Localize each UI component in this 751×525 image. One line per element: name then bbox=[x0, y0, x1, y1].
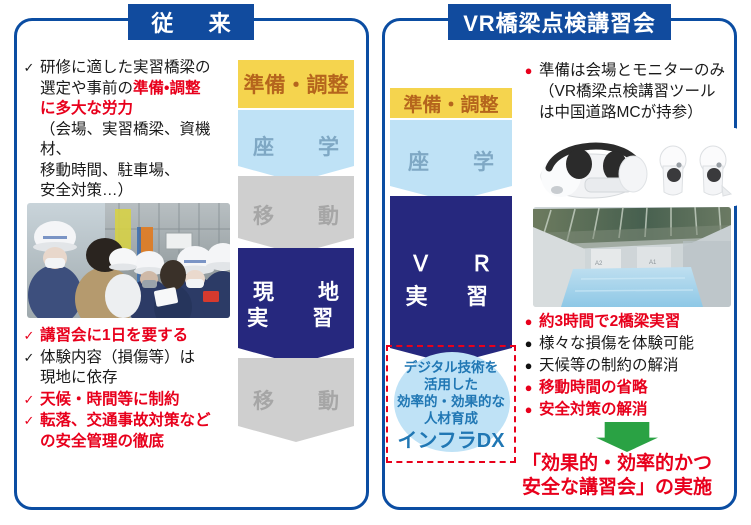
conclusion-line: 「効果的・効率的かつ bbox=[522, 453, 712, 474]
flow-step-prep: 準備・調整 bbox=[238, 60, 354, 108]
bullet-line: 転落、交通事故対策など bbox=[40, 412, 211, 429]
bullet-item: ✓ 体験内容（損傷等）は 現地に依存 bbox=[22, 348, 242, 389]
bullet-item: ● 安全対策の解消 bbox=[521, 399, 747, 420]
photo-vr-bridge-art: A2 A1 bbox=[533, 207, 731, 307]
bullet-line: （VR橋梁点検講習ツール bbox=[539, 83, 716, 100]
check-icon: ✓ bbox=[22, 348, 36, 368]
photo-vr-headset-controllers bbox=[533, 128, 738, 206]
flow-step-move-2: 移 動 bbox=[238, 358, 354, 442]
check-icon: ✓ bbox=[22, 390, 36, 410]
bullet-line: 天候・時間等に制約 bbox=[40, 390, 180, 411]
bullet-line-emphasis: に多大な労力 bbox=[40, 100, 133, 117]
dx-headline: インフラDX bbox=[397, 429, 504, 453]
dx-line: 活用した bbox=[424, 376, 478, 393]
bullet-line: 体験内容（損傷等）は bbox=[40, 349, 195, 366]
infographic-root: ✓ 研修に適した実習橋梁の 選定や事前の準備•調整 に多大な労力 （会場、実習橋… bbox=[0, 0, 751, 525]
bullet-item: ✓ 天候・時間等に制約 bbox=[22, 390, 242, 411]
check-icon: ✓ bbox=[22, 58, 36, 78]
bullet-item: ✓ 研修に適した実習橋梁の 選定や事前の準備•調整 に多大な労力 （会場、実習橋… bbox=[22, 58, 237, 202]
bullet-line: 現地に依存 bbox=[40, 369, 118, 386]
bullet-line: の安全管理の徹底 bbox=[40, 433, 164, 450]
flow-step-onsite: 現 地 実 習 bbox=[238, 248, 354, 364]
bullet-line: 講習会に1日を要する bbox=[40, 326, 188, 347]
bullet-line: 安全対策…） bbox=[40, 182, 133, 199]
bullet-dot-icon: ● bbox=[521, 399, 536, 420]
bullet-line: 天候等の制約の解消 bbox=[539, 355, 679, 376]
bullet-item: ● 様々な損傷を体験可能 bbox=[521, 333, 747, 354]
flow-step-move-1: 移 動 bbox=[238, 176, 354, 254]
bullet-line: 選定や事前の bbox=[40, 80, 133, 97]
bullet-line: 準備は会場とモニターのみ bbox=[539, 62, 725, 79]
bullet-dot-icon: ● bbox=[521, 333, 536, 354]
bullet-line-emphasis: 準備•調整 bbox=[133, 80, 200, 97]
bullet-dot-icon: ● bbox=[521, 60, 536, 81]
svg-text:A1: A1 bbox=[649, 260, 657, 266]
check-icon: ✓ bbox=[22, 326, 36, 346]
panel-title-vr-course: VR橋梁点検講習会 bbox=[448, 4, 671, 40]
bullet-line: 様々な損傷を体験可能 bbox=[539, 333, 694, 354]
flow-conventional: 準備・調整 座 学 移 動 現 地 実 習 移 動 bbox=[238, 60, 354, 442]
conclusion-text: 「効果的・効率的かつ 安全な講習会」の実施 bbox=[522, 452, 750, 500]
bullet-line: 約3時間で2橋梁実習 bbox=[539, 311, 680, 332]
bullet-line: 移動時間の省略 bbox=[539, 377, 648, 398]
dx-line: デジタル技術を bbox=[404, 359, 498, 376]
flow-vr-course: 準備・調整 座 学 Ｖ Ｒ 実 習 bbox=[390, 88, 512, 364]
bullet-item: ● 準備は会場とモニターのみ （VR橋梁点検講習ツール は中国道路MCが持参） bbox=[521, 60, 749, 123]
photo-onsite-training-art bbox=[27, 203, 230, 318]
bullet-line: 安全対策の解消 bbox=[539, 399, 648, 420]
bullet-line: 研修に適した実習橋梁の bbox=[40, 59, 211, 76]
bullet-line: は中国道路MCが持参） bbox=[539, 104, 703, 121]
bullet-item: ● 約3時間で2橋梁実習 bbox=[521, 311, 747, 332]
svg-text:A2: A2 bbox=[595, 261, 603, 267]
flow-step-vr-practice: Ｖ Ｒ 実 習 bbox=[390, 196, 512, 364]
photo-onsite-training bbox=[27, 203, 230, 318]
panel-title-conventional: 従 来 bbox=[128, 4, 254, 40]
conclusion-line: 安全な講習会」の実施 bbox=[522, 477, 712, 498]
dx-line: 効率的・効果的な bbox=[397, 393, 505, 410]
check-icon: ✓ bbox=[22, 411, 36, 431]
bullet-dot-icon: ● bbox=[521, 355, 536, 376]
photo-vr-bridge-underside: A2 A1 bbox=[533, 207, 731, 307]
bullet-dot-icon: ● bbox=[521, 311, 536, 332]
bullet-item: ✓ 講習会に1日を要する bbox=[22, 326, 242, 347]
vr-top-bullets: ● 準備は会場とモニターのみ （VR橋梁点検講習ツール は中国道路MCが持参） bbox=[521, 60, 749, 124]
bullet-item: ● 天候等の制約の解消 bbox=[521, 355, 747, 376]
conventional-top-bullets: ✓ 研修に適した実習橋梁の 選定や事前の準備•調整 に多大な労力 （会場、実習橋… bbox=[22, 58, 237, 203]
photo-vr-headset-art bbox=[533, 128, 738, 206]
bullet-line: （会場、実習橋梁、資機材、 bbox=[40, 121, 211, 159]
vr-benefit-bullets: ● 約3時間で2橋梁実習 ● 様々な損傷を体験可能 ● 天候等の制約の解消 ● … bbox=[521, 311, 747, 421]
bullet-item: ● 移動時間の省略 bbox=[521, 377, 747, 398]
flow-step-prep: 準備・調整 bbox=[390, 88, 512, 118]
bullet-dot-icon: ● bbox=[521, 377, 536, 398]
conventional-bottom-bullets: ✓ 講習会に1日を要する ✓ 体験内容（損傷等）は 現地に依存 ✓ 天候・時間等… bbox=[22, 326, 242, 453]
dx-line: 人材育成 bbox=[424, 410, 478, 427]
flow-step-classroom: 座 学 bbox=[238, 110, 354, 182]
dx-callout: デジタル技術を 活用した 効率的・効果的な 人材育成 インフラDX bbox=[386, 350, 516, 462]
flow-step-classroom: 座 学 bbox=[390, 120, 512, 202]
bullet-line: 移動時間、駐車場、 bbox=[40, 162, 180, 179]
bullet-item: ✓ 転落、交通事故対策など の安全管理の徹底 bbox=[22, 411, 242, 452]
